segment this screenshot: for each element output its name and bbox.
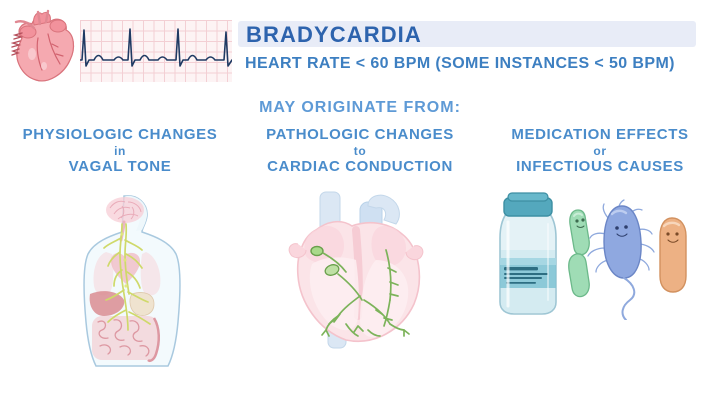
flagellated-bacterium-blue-icon [588, 200, 654, 320]
column-2-line-3: CARDIAC CONDUCTION [240, 158, 480, 176]
column-2-line-2: to [240, 144, 480, 158]
heart-conduction-system-illustration [272, 190, 458, 350]
column-3-line-2: or [480, 144, 720, 158]
medication-vial-icon [500, 193, 556, 314]
column-3-line-1: MEDICATION EFFECTS [480, 126, 720, 144]
rod-bacterium-green-icon [569, 210, 590, 297]
section-heading: MAY ORIGINATE FROM: [0, 99, 720, 117]
stomach-icon [130, 292, 154, 315]
column-heading-medication: MEDICATION EFFECTS or INFECTIOUS CAUSES [480, 126, 720, 176]
sa-node-icon [311, 247, 323, 256]
anatomical-heart-icon [4, 8, 86, 90]
human-torso-vagus-nerve-illustration [62, 190, 202, 370]
illustration-canvas: BRADYCARDIA HEART RATE < 60 BPM (SOME IN… [0, 0, 720, 404]
page-subtitle: HEART RATE < 60 BPM (SOME INSTANCES < 50… [245, 54, 675, 74]
ecg-trace [80, 20, 232, 82]
column-1-line-2: in [0, 144, 240, 158]
medication-and-bacteria-illustration [492, 190, 702, 320]
rod-bacterium-orange-icon [660, 218, 686, 292]
ecg-rhythm-strip [80, 20, 232, 82]
column-3-line-3: INFECTIOUS CAUSES [480, 158, 720, 176]
column-heading-physiologic: PHYSIOLOGIC CHANGES in VAGAL TONE [0, 126, 240, 176]
column-heading-pathologic: PATHOLOGIC CHANGES to CARDIAC CONDUCTION [240, 126, 480, 176]
column-1-line-1: PHYSIOLOGIC CHANGES [0, 126, 240, 144]
column-2-line-1: PATHOLOGIC CHANGES [240, 126, 480, 144]
hero-graphic [4, 6, 234, 90]
column-1-line-3: VAGAL TONE [0, 158, 240, 176]
page-title: BRADYCARDIA [246, 22, 422, 47]
